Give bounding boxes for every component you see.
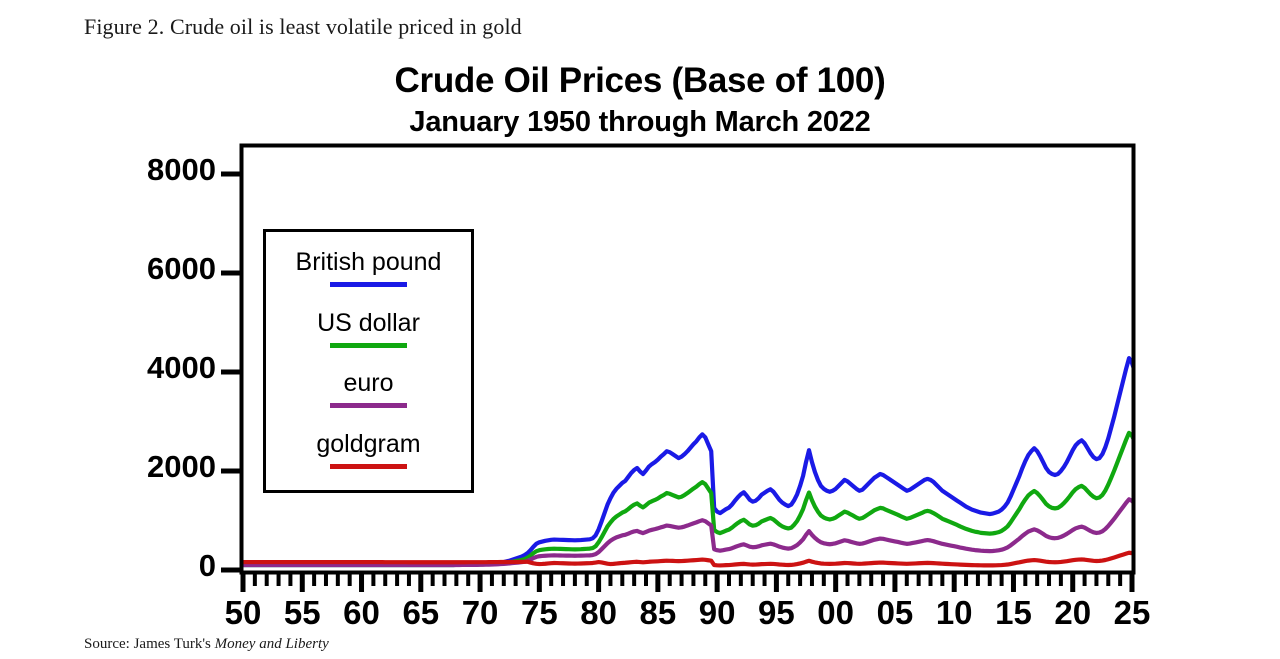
y-axis-ticks	[221, 174, 241, 570]
y-tick-label-4000: 4000	[96, 350, 216, 386]
y-tick-label-2000: 2000	[96, 449, 216, 485]
legend-swatch-us-dollar	[330, 343, 407, 348]
x-axis-ticks	[243, 572, 1132, 592]
legend-label-goldgram: goldgram	[316, 431, 420, 457]
y-tick-label-0: 0	[96, 548, 216, 584]
x-tick-label-25: 25	[1097, 594, 1167, 632]
legend-entry-british-pound[interactable]: British pound	[266, 249, 471, 287]
legend-entry-us-dollar[interactable]: US dollar	[266, 310, 471, 348]
legend-swatch-euro	[330, 403, 407, 408]
source-note: Source: James Turk's Money and Liberty	[84, 636, 329, 653]
legend-entry-goldgram[interactable]: goldgram	[266, 431, 471, 469]
legend-label-euro: euro	[343, 370, 393, 396]
source-note-prefix: Source: James Turk's	[84, 636, 215, 652]
y-tick-label-6000: 6000	[96, 251, 216, 287]
source-note-work-title: Money and Liberty	[215, 636, 329, 652]
legend-label-british-pound: British pound	[296, 249, 442, 275]
legend-label-us-dollar: US dollar	[317, 310, 420, 336]
chart-legend: British pound US dollar euro goldgram	[263, 229, 474, 493]
y-tick-label-8000: 8000	[96, 152, 216, 188]
legend-entry-euro[interactable]: euro	[266, 370, 471, 408]
legend-swatch-british-pound	[330, 282, 407, 287]
legend-swatch-goldgram	[330, 464, 407, 469]
